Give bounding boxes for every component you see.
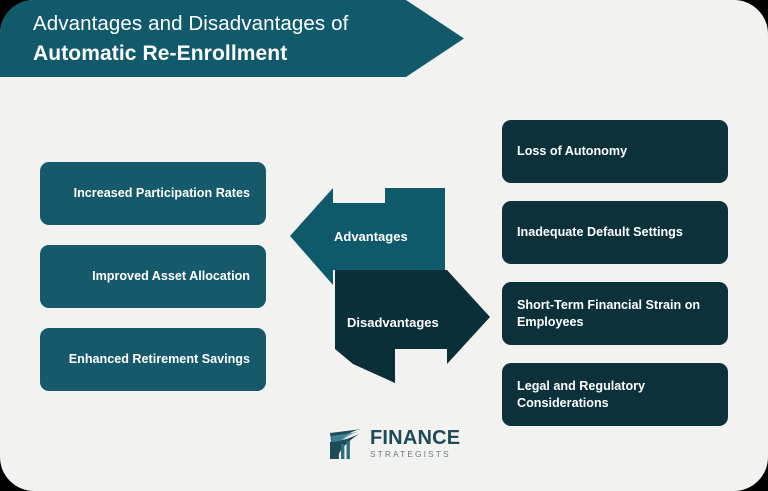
infographic-card: Advantages and Disadvantages of Automati… (0, 0, 768, 491)
brand-logo-text: FINANCE STRATEGISTS (370, 428, 460, 458)
advantage-item: Increased Participation Rates (40, 162, 266, 225)
advantage-item: Improved Asset Allocation (40, 245, 266, 308)
advantages-column: Increased Participation Rates Improved A… (40, 162, 266, 391)
header-banner: Advantages and Disadvantages of Automati… (0, 0, 464, 77)
advantage-item: Enhanced Retirement Savings (40, 328, 266, 391)
disadvantage-item: Short-Term Financial Strain on Employees (502, 282, 728, 345)
arrow-cluster: Advantages Disadvantages (290, 188, 490, 383)
brand-logo: FINANCE STRATEGISTS (328, 428, 460, 459)
disadvantages-arrow-label: Disadvantages (347, 315, 439, 330)
right-pointing-arrow: Disadvantages (335, 270, 490, 383)
header-title-line-2: Automatic Re-Enrollment (33, 39, 464, 69)
disadvantages-column: Loss of Autonomy Inadequate Default Sett… (502, 120, 728, 426)
brand-name: FINANCE (370, 428, 460, 448)
disadvantage-item: Legal and Regulatory Considerations (502, 363, 728, 426)
brand-tagline: STRATEGISTS (370, 450, 460, 458)
header-title-line-1: Advantages and Disadvantages of (33, 9, 464, 39)
disadvantage-item: Inadequate Default Settings (502, 201, 728, 264)
disadvantage-item: Loss of Autonomy (502, 120, 728, 183)
finance-strategists-chart-icon (328, 428, 364, 459)
advantages-arrow-label: Advantages (334, 229, 408, 244)
